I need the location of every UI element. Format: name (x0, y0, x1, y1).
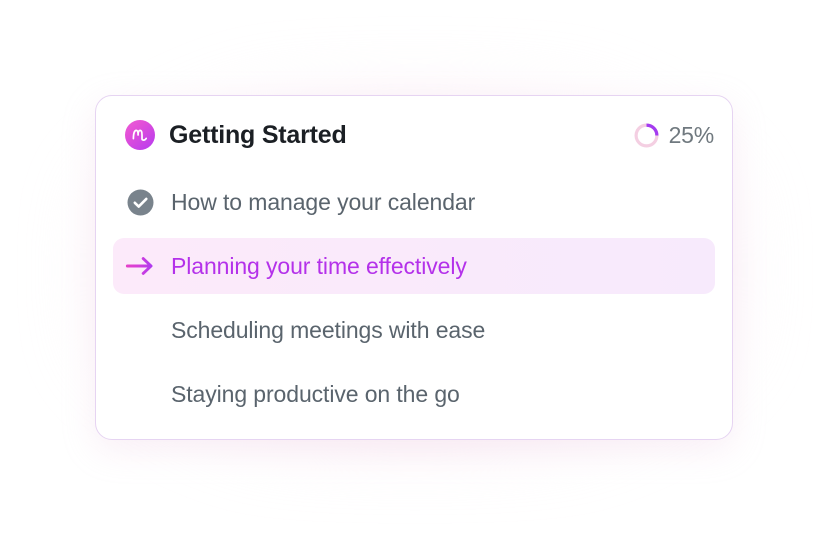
getting-started-card: Getting Started 25% How to mana (95, 95, 733, 440)
progress-percent-label: 25% (669, 122, 714, 149)
checklist-item-active[interactable]: Planning your time effectively (113, 238, 715, 294)
progress-ring-icon (633, 122, 660, 149)
checklist-item-label: Scheduling meetings with ease (171, 317, 485, 344)
arrow-right-icon (125, 251, 155, 281)
checklist-item-done[interactable]: How to manage your calendar (113, 174, 715, 230)
page-background: Getting Started 25% How to mana (0, 0, 828, 536)
checklist: How to manage your calendar (96, 174, 732, 439)
checklist-item-label: Staying productive on the go (171, 381, 460, 408)
checklist-item-label: How to manage your calendar (171, 189, 475, 216)
card-header: Getting Started 25% (96, 96, 732, 174)
checklist-item-icon-placeholder (125, 315, 155, 345)
progress-indicator: 25% (633, 122, 714, 149)
checklist-item-todo[interactable]: Scheduling meetings with ease (113, 302, 715, 358)
checklist-item-todo[interactable]: Staying productive on the go (113, 366, 715, 422)
card-title: Getting Started (169, 121, 347, 150)
brand-avatar-m-icon (125, 120, 155, 150)
checklist-item-label: Planning your time effectively (171, 253, 467, 280)
checklist-item-icon-placeholder (125, 379, 155, 409)
check-circle-icon (125, 187, 155, 217)
